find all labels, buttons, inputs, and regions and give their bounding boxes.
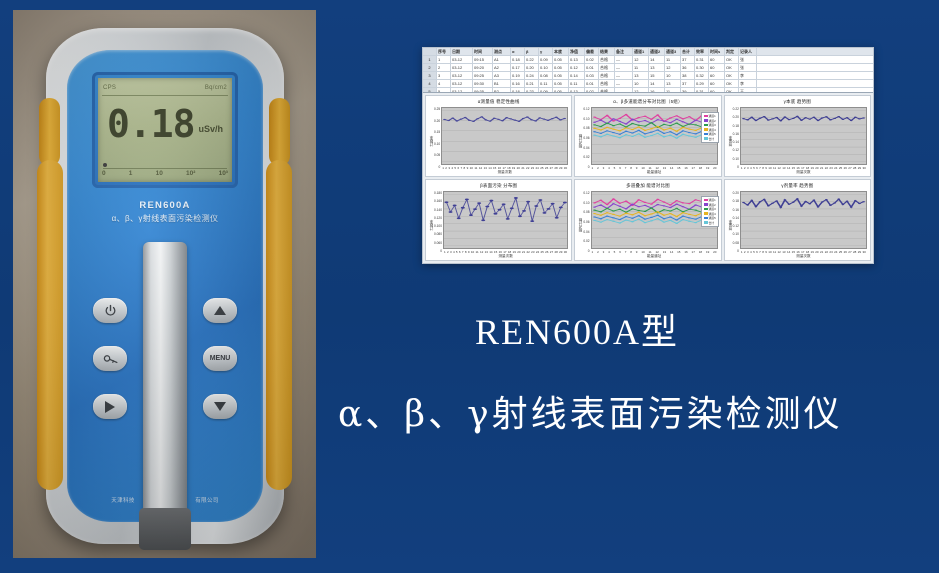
chart-y-ticks: 0.200.180.160.140.120.100.080 (733, 191, 739, 259)
grid-cell[interactable]: OK (725, 56, 739, 63)
legend-swatch (704, 217, 708, 220)
legend-label: 合计 (709, 137, 715, 141)
grid-cell[interactable]: 09:25 (473, 72, 493, 79)
legend-item: 通道3 (704, 207, 716, 211)
legend-swatch (704, 212, 708, 215)
lcd-tick: 1 (129, 170, 133, 181)
axis-tick: 0 (583, 249, 589, 253)
axis-tick: 0.08 (733, 241, 739, 245)
grid-cell[interactable]: 效率 (695, 48, 709, 55)
grid-cell[interactable]: 37 (681, 56, 695, 63)
grid-cell[interactable]: 时间s (709, 48, 725, 55)
lcd-tick: 10³ (219, 170, 228, 181)
grid-cell[interactable]: 0.16 (511, 80, 525, 87)
lcd-reading: 0.18 uSv/h (98, 98, 232, 150)
grid-cell[interactable]: 通道1 (633, 48, 649, 55)
down-button[interactable] (203, 394, 237, 419)
grid-cell[interactable]: 03-12 (451, 72, 473, 79)
grid-cell[interactable]: 0.05 (553, 64, 569, 71)
chart-multichannel-overlay: 多道叠加 能谱对比图相对计数0.120.100.080.060.040.0201… (574, 179, 721, 261)
legend-label: 通道3 (709, 207, 716, 211)
grid-cell[interactable]: 时间 (473, 48, 493, 55)
power-button[interactable] (93, 298, 127, 323)
grid-cell[interactable]: 0.21 (525, 80, 539, 87)
legend-swatch (704, 119, 708, 122)
grid-cell[interactable]: 12 (665, 64, 681, 71)
grid-cell[interactable]: 0.17 (511, 64, 525, 71)
grid-cell[interactable]: 3 (437, 72, 451, 79)
data-grid[interactable]: 序号日期时间测点αβγ本底净值偏差结果备注通道1通道2通道3合计效率时间s判定记… (423, 48, 873, 93)
lcd-tick: 0 (102, 170, 106, 181)
grid-cell[interactable]: 0.29 (695, 80, 709, 87)
grid-cell[interactable]: 通道2 (649, 48, 665, 55)
grid-cell[interactable]: 10 (665, 72, 681, 79)
legend-label: 通道3 (709, 123, 716, 127)
axis-tick: 0.02 (583, 239, 589, 243)
legend-label: 通道5 (709, 132, 716, 136)
chart-plot-area (740, 191, 867, 249)
menu-button-label: MENU (210, 355, 231, 362)
axis-tick: 0.16 (733, 208, 739, 212)
axis-tick: 0.04 (583, 230, 589, 234)
legend-label: 通道4 (709, 128, 716, 132)
lcd-screen: CPS Bq/cm2 0.18 uSv/h 011010²10³ (98, 78, 232, 182)
grid-cell[interactable]: OK (725, 72, 739, 79)
grid-cell[interactable]: 14 (649, 80, 665, 87)
grid-cell[interactable]: 13 (633, 72, 649, 79)
axis-tick: 0.06 (583, 220, 589, 224)
poster-background: CPS Bq/cm2 0.18 uSv/h 011010²10³ REN600A (0, 0, 939, 573)
grid-cell[interactable]: 记录人 (739, 48, 757, 55)
grid-cell[interactable]: 合格 (599, 72, 615, 79)
chart-y-ticks: 0.1800.1600.1400.1200.1000.0800.0600 (434, 191, 442, 259)
chart-plot-area (443, 191, 568, 249)
chart-title: α、β多道能谱分布对比图（5组） (575, 96, 720, 105)
grid-cell[interactable]: 60 (709, 56, 725, 63)
grid-cell[interactable]: 14 (649, 56, 665, 63)
grid-cell[interactable]: 0.30 (695, 64, 709, 71)
grid-cell[interactable]: 0.02 (585, 56, 599, 63)
chart-y-ticks: 0.120.100.080.060.040.020 (583, 107, 589, 175)
grid-cell[interactable]: 0.08 (539, 72, 553, 79)
table-row[interactable]: 3303-1209:25A30.190.240.080.050.140.03合格… (423, 72, 873, 80)
grid-header-row[interactable]: 序号日期时间测点αβγ本底净值偏差结果备注通道1通道2通道3合计效率时间s判定记… (423, 48, 873, 56)
legend-swatch (704, 208, 708, 211)
chart-y-ticks: 0.220.200.180.160.140.120.100 (733, 107, 739, 175)
axis-tick: 0.16 (733, 132, 739, 136)
grid-cell[interactable]: 0.05 (553, 80, 569, 87)
grid-cell[interactable]: 本底 (553, 48, 569, 55)
row-index-cell: 1 (423, 56, 437, 63)
lcd-divider (102, 95, 228, 96)
legend-swatch (704, 221, 708, 224)
legend-swatch (704, 137, 708, 140)
legend-swatch (704, 115, 708, 118)
grid-cell[interactable]: 4 (437, 80, 451, 87)
device-footer-right: 有限公司 (195, 496, 219, 504)
grid-cell[interactable]: 36 (681, 64, 695, 71)
grid-cell[interactable]: 序号 (437, 48, 451, 55)
grid-cell[interactable]: 09:30 (473, 80, 493, 87)
grid-cell[interactable]: 0.05 (553, 72, 569, 79)
legend-label: 通道4 (709, 212, 716, 216)
grid-cell[interactable]: 0.10 (539, 64, 553, 71)
axis-tick: 0.05 (434, 153, 440, 157)
chart-x-axis-label: 测量次数 (443, 254, 568, 259)
grid-cell[interactable]: 15 (649, 72, 665, 79)
device-hand-strap (143, 242, 187, 542)
axis-tick: 0.10 (733, 157, 739, 161)
table-row[interactable]: 1103-1209:15A10.180.220.090.050.130.02合格… (423, 56, 873, 64)
lcd-tick: 10² (186, 170, 195, 181)
grid-cell[interactable]: B1 (493, 80, 511, 87)
grid-cell[interactable]: 合计 (681, 48, 695, 55)
key-icon (103, 353, 118, 365)
axis-tick: 0.20 (434, 119, 440, 123)
axis-tick: 0.120 (434, 216, 442, 220)
legend-label: 通道1 (709, 198, 716, 202)
lcd-scale-line (103, 168, 227, 169)
grid-cell[interactable]: 03-12 (451, 64, 473, 71)
axis-tick: 0 (733, 165, 739, 169)
legend-label: 通道5 (709, 216, 716, 220)
axis-tick: 0.12 (583, 107, 589, 111)
row-index-cell (423, 48, 437, 55)
grid-cell[interactable]: 李 (739, 80, 757, 87)
device-photo: CPS Bq/cm2 0.18 uSv/h 011010²10³ REN600A (13, 10, 316, 558)
grid-cell[interactable]: 37 (681, 80, 695, 87)
legend-swatch (704, 128, 708, 131)
grid-cell[interactable]: 净值 (569, 48, 585, 55)
chart-plot-area (740, 107, 867, 165)
grid-cell[interactable]: 张 (739, 56, 757, 63)
device-model-name-cn: α、β、γ射线表面污染检测仪 (67, 213, 263, 224)
chart-multichannel-spectrum: α、β多道能谱分布对比图（5组）相对计数0.120.100.080.060.04… (574, 95, 721, 177)
grid-cell[interactable]: 09:20 (473, 64, 493, 71)
axis-tick: 0 (733, 249, 739, 253)
grid-cell[interactable]: 60 (709, 72, 725, 79)
menu-button[interactable]: MENU (203, 346, 237, 371)
chart-x-axis-label: 能量道址 (591, 170, 718, 175)
grid-cell[interactable]: 0.11 (539, 80, 553, 87)
chart-title: β表面污染 分布图 (426, 180, 571, 189)
grid-cell[interactable]: OK (725, 64, 739, 71)
grid-cell[interactable]: 2 (437, 64, 451, 71)
axis-tick: 0.08 (583, 126, 589, 130)
chart-beta-scatter: β表面污染 分布图计数率0.1800.1600.1400.1200.1000.0… (425, 179, 572, 261)
grid-cell[interactable]: 日期 (451, 48, 473, 55)
grid-cell[interactable]: 0.01 (585, 80, 599, 87)
chart-matrix: α测量值 稳定性曲线计数率0.250.200.150.100.050123456… (423, 93, 873, 263)
lcd-status-left: CPS (103, 85, 116, 91)
grid-cell[interactable]: 13 (649, 64, 665, 71)
chart-y-axis-label: 计数率 (428, 136, 433, 147)
row-index-cell: 4 (423, 80, 437, 87)
grid-cell[interactable]: 1 (437, 56, 451, 63)
power-icon (104, 304, 117, 317)
lcd-status-row: CPS Bq/cm2 (103, 81, 227, 94)
axis-tick: 0.20 (733, 115, 739, 119)
chart-y-axis-label: 剂量率 (727, 136, 732, 147)
chart-y-axis-label: 相对计数 (577, 218, 582, 232)
grid-cell[interactable]: 0.20 (525, 64, 539, 71)
chart-plot-area (591, 191, 718, 249)
legend-swatch (704, 124, 708, 127)
axis-tick: 0.08 (583, 210, 589, 214)
triangle-right-icon (105, 401, 115, 413)
bumper-left (37, 160, 63, 490)
axis-tick: 0.10 (583, 117, 589, 121)
triangle-down-icon (214, 402, 226, 411)
axis-tick: 0 (583, 165, 589, 169)
chart-x-axis-label: 测量次数 (740, 170, 867, 175)
grid-cell[interactable]: 0.12 (569, 64, 585, 71)
grid-cell[interactable]: A2 (493, 64, 511, 71)
grid-cell[interactable]: 0.31 (695, 56, 709, 63)
grid-cell[interactable]: 0.24 (525, 72, 539, 79)
axis-tick: 0.160 (434, 199, 442, 203)
enter-button[interactable] (93, 394, 127, 419)
grid-cell[interactable]: α (511, 48, 525, 55)
chart-legend: 通道1通道2通道3通道4通道5合计 (701, 196, 719, 227)
axis-tick: 0.14 (733, 140, 739, 144)
grid-cell[interactable]: 结果 (599, 48, 615, 55)
axis-tick: 0.15 (434, 130, 440, 134)
axis-tick: 0 (434, 165, 440, 169)
axis-tick: 0.02 (583, 155, 589, 159)
grid-cell[interactable]: 0.14 (569, 72, 585, 79)
page-subtitle: α、β、γ射线表面污染检测仪 (330, 385, 939, 437)
lcd-scale-ticks: 011010²10³ (102, 170, 228, 181)
chart-y-ticks: 0.250.200.150.100.050 (434, 107, 440, 175)
legend-item: 通道2 (704, 119, 716, 123)
grid-cell[interactable]: 通道3 (665, 48, 681, 55)
axis-tick: 0.25 (434, 107, 440, 111)
grid-cell[interactable]: γ (539, 48, 553, 55)
chart-gamma-trend-2: γ剂量率 趋势图剂量率0.200.180.160.140.120.100.080… (724, 179, 871, 261)
grid-cell[interactable]: — (615, 80, 633, 87)
legend-label: 合计 (709, 221, 715, 225)
legend-label: 通道1 (709, 114, 716, 118)
grid-cell[interactable]: 11 (665, 56, 681, 63)
chart-title: 多道叠加 能谱对比图 (575, 180, 720, 189)
chart-title: α测量值 稳定性曲线 (426, 96, 571, 105)
device-model-print: REN600A α、β、γ射线表面污染检测仪 (67, 200, 263, 224)
title-block: REN600A型 α、β、γ射线表面污染检测仪 (330, 310, 939, 437)
chart-x-axis-label: 测量次数 (740, 254, 867, 259)
grid-cell[interactable]: 60 (709, 80, 725, 87)
axis-tick: 0.20 (733, 191, 739, 195)
grid-cell[interactable]: 0.09 (539, 56, 553, 63)
chart-legend: 通道1通道2通道3通道4通道5合计 (701, 112, 719, 143)
chart-title: γ剂量率 趋势图 (725, 180, 870, 189)
axis-tick: 0 (434, 249, 442, 253)
grid-cell[interactable]: 10 (633, 80, 649, 87)
grid-cell[interactable]: 偏差 (585, 48, 599, 55)
lcd-tick: 10 (156, 170, 163, 181)
row-index-cell: 2 (423, 64, 437, 71)
row-index-cell: 3 (423, 72, 437, 79)
grid-cell[interactable]: 0.03 (585, 72, 599, 79)
bumper-right (266, 160, 292, 490)
axis-tick: 0.18 (733, 124, 739, 128)
chart-y-axis-label: 相对计数 (577, 134, 582, 148)
chart-alpha-stability: α测量值 稳定性曲线计数率0.250.200.150.100.050123456… (425, 95, 572, 177)
grid-cell[interactable]: 0.01 (585, 64, 599, 71)
device-model-name: REN600A (67, 200, 263, 211)
grid-cell[interactable]: 测点 (493, 48, 511, 55)
grid-cell[interactable]: 60 (709, 64, 725, 71)
grid-cell[interactable]: 09:15 (473, 56, 493, 63)
axis-tick: 0.10 (434, 142, 440, 146)
grid-cell[interactable]: 13 (665, 80, 681, 87)
legend-item: 通道5 (704, 132, 716, 136)
lcd-bezel: CPS Bq/cm2 0.18 uSv/h 011010²10³ (92, 72, 238, 188)
chart-x-axis-label: 测量次数 (441, 170, 568, 175)
grid-cell[interactable]: 李 (739, 72, 757, 79)
legend-item: 通道1 (704, 114, 716, 118)
chart-plot-area (441, 107, 568, 165)
grid-cell[interactable]: 38 (681, 72, 695, 79)
grid-cell[interactable]: 0.13 (569, 56, 585, 63)
grid-cell[interactable]: — (615, 72, 633, 79)
bumper-top-left (39, 98, 60, 166)
axis-tick: 0.22 (733, 107, 739, 111)
axis-tick: 0.12 (733, 148, 739, 152)
chart-x-axis-label: 能量道址 (591, 254, 718, 259)
chart-y-ticks: 0.120.100.080.060.040.020 (583, 191, 589, 259)
legend-swatch (704, 203, 708, 206)
axis-tick: 0.060 (434, 241, 442, 245)
axis-tick: 0.10 (733, 232, 739, 236)
grid-cell[interactable]: 合格 (599, 56, 615, 63)
legend-item: 通道5 (704, 216, 716, 220)
grid-cell[interactable]: 0.22 (525, 56, 539, 63)
legend-item: 通道1 (704, 198, 716, 202)
axis-tick: 0.14 (733, 216, 739, 220)
grid-cell[interactable]: 0.32 (695, 72, 709, 79)
grid-cell[interactable]: 合格 (599, 80, 615, 87)
grid-cell[interactable]: 合格 (599, 64, 615, 71)
lcd-status-right: Bq/cm2 (205, 85, 227, 91)
bumper-top-right (269, 98, 290, 166)
up-button[interactable] (203, 298, 237, 323)
chart-y-axis-label: 计数率 (428, 220, 433, 231)
grid-cell[interactable]: A1 (493, 56, 511, 63)
grid-cell[interactable]: 判定 (725, 48, 739, 55)
grid-cell[interactable]: 张 (739, 64, 757, 71)
key-button[interactable] (93, 346, 127, 371)
axis-tick: 0.140 (434, 208, 442, 212)
grid-cell[interactable]: A3 (493, 72, 511, 79)
grid-cell[interactable]: 0.11 (569, 80, 585, 87)
grid-cell[interactable]: β (525, 48, 539, 55)
legend-label: 通道2 (709, 119, 716, 123)
grid-cell[interactable]: — (615, 64, 633, 71)
axis-tick: 0.12 (583, 191, 589, 195)
legend-swatch (704, 133, 708, 136)
grid-cell[interactable]: 0.18 (511, 56, 525, 63)
device-strap-foot (139, 508, 191, 550)
legend-item: 通道3 (704, 123, 716, 127)
legend-swatch (704, 199, 708, 202)
software-screenshot: 序号日期时间测点αβγ本底净值偏差结果备注通道1通道2通道3合计效率时间s判定记… (422, 47, 874, 264)
page-title: REN600A型 (330, 310, 939, 355)
legend-label: 通道2 (709, 203, 716, 207)
chart-y-axis-label: 剂量率 (727, 220, 732, 231)
device-footer-left: 天津科技 (111, 496, 135, 504)
grid-cell[interactable]: 03-12 (451, 80, 473, 87)
grid-cell[interactable]: 备注 (615, 48, 633, 55)
chart-gamma-trend-1: γ本底 趋势图剂量率0.220.200.180.160.140.120.1001… (724, 95, 871, 177)
axis-tick: 0.10 (583, 201, 589, 205)
legend-item: 通道2 (704, 203, 716, 207)
legend-item: 通道4 (704, 212, 716, 216)
triangle-up-icon (214, 306, 226, 315)
lcd-value: 0.18 (107, 105, 195, 143)
grid-cell[interactable]: 0.05 (553, 56, 569, 63)
axis-tick: 0.06 (583, 136, 589, 140)
axis-tick: 0.100 (434, 224, 442, 228)
table-row[interactable]: 4403-1209:30B10.160.210.110.050.110.01合格… (423, 80, 873, 88)
axis-tick: 0.12 (733, 224, 739, 228)
lcd-unit: uSv/h (199, 124, 224, 134)
legend-item: 合计 (704, 137, 716, 141)
legend-item: 合计 (704, 221, 716, 225)
axis-tick: 0.18 (733, 199, 739, 203)
axis-tick: 0.04 (583, 146, 589, 150)
chart-title: γ本底 趋势图 (725, 96, 870, 105)
axis-tick: 0.080 (434, 232, 442, 236)
grid-cell[interactable]: 11 (633, 64, 649, 71)
table-row[interactable]: 2203-1209:20A20.170.200.100.050.120.01合格… (423, 64, 873, 72)
axis-tick: 0.180 (434, 191, 442, 195)
grid-cell[interactable]: 12 (633, 56, 649, 63)
grid-cell[interactable]: — (615, 56, 633, 63)
grid-cell[interactable]: 03-12 (451, 56, 473, 63)
grid-cell[interactable]: OK (725, 80, 739, 87)
lcd-bargraph-marker (103, 163, 107, 167)
legend-item: 通道4 (704, 128, 716, 132)
chart-plot-area (591, 107, 718, 165)
grid-cell[interactable]: 0.19 (511, 72, 525, 79)
